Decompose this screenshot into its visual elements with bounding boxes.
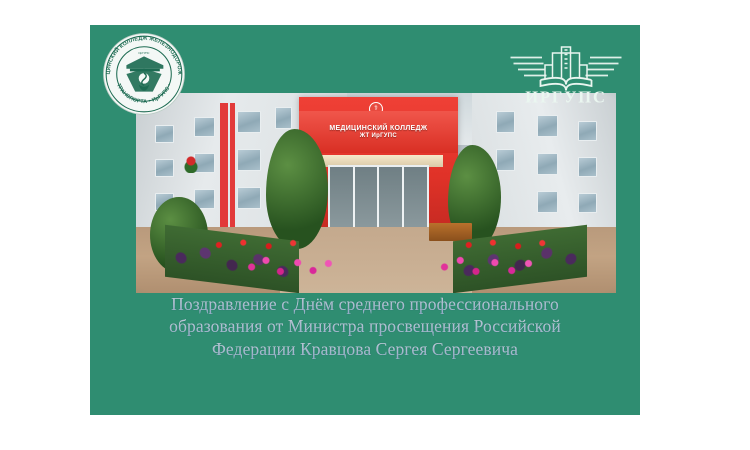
- caption-line-3: Федерации Кравцова Сергея Сергеевича: [110, 338, 620, 360]
- irgups-logo: ИРГУПС: [506, 35, 626, 107]
- building-sign-line2: ЖТ ИрГУПС: [360, 133, 397, 140]
- caption-line-2: образования от Министра просвещения Росс…: [110, 315, 620, 337]
- svg-text:ИрГУПС: ИрГУПС: [139, 51, 150, 55]
- caption-text: Поздравление с Днём среднего профессиона…: [110, 293, 620, 360]
- medical-college-seal-logo: МЕДИЦИНСКИЙ КОЛЛЕДЖ ЖЕЛЕЗНОДОРОЖНОГО ТРА…: [100, 30, 188, 118]
- irgups-logo-label: ИРГУПС: [525, 88, 607, 107]
- college-building-photo: ⚕ МЕДИЦИНСКИЙ КОЛЛЕДЖ ЖТ ИрГУПС: [136, 93, 616, 293]
- building-sign: МЕДИЦИНСКИЙ КОЛЛЕДЖ ЖТ ИрГУПС: [299, 111, 457, 153]
- slide-canvas: МЕДИЦИНСКИЙ КОЛЛЕДЖ ЖЕЛЕЗНОДОРОЖНОГО ТРА…: [90, 25, 640, 415]
- caption-line-1: Поздравление с Днём среднего профессиона…: [110, 293, 620, 315]
- building-sign-line1: МЕДИЦИНСКИЙ КОЛЛЕДЖ: [329, 125, 427, 133]
